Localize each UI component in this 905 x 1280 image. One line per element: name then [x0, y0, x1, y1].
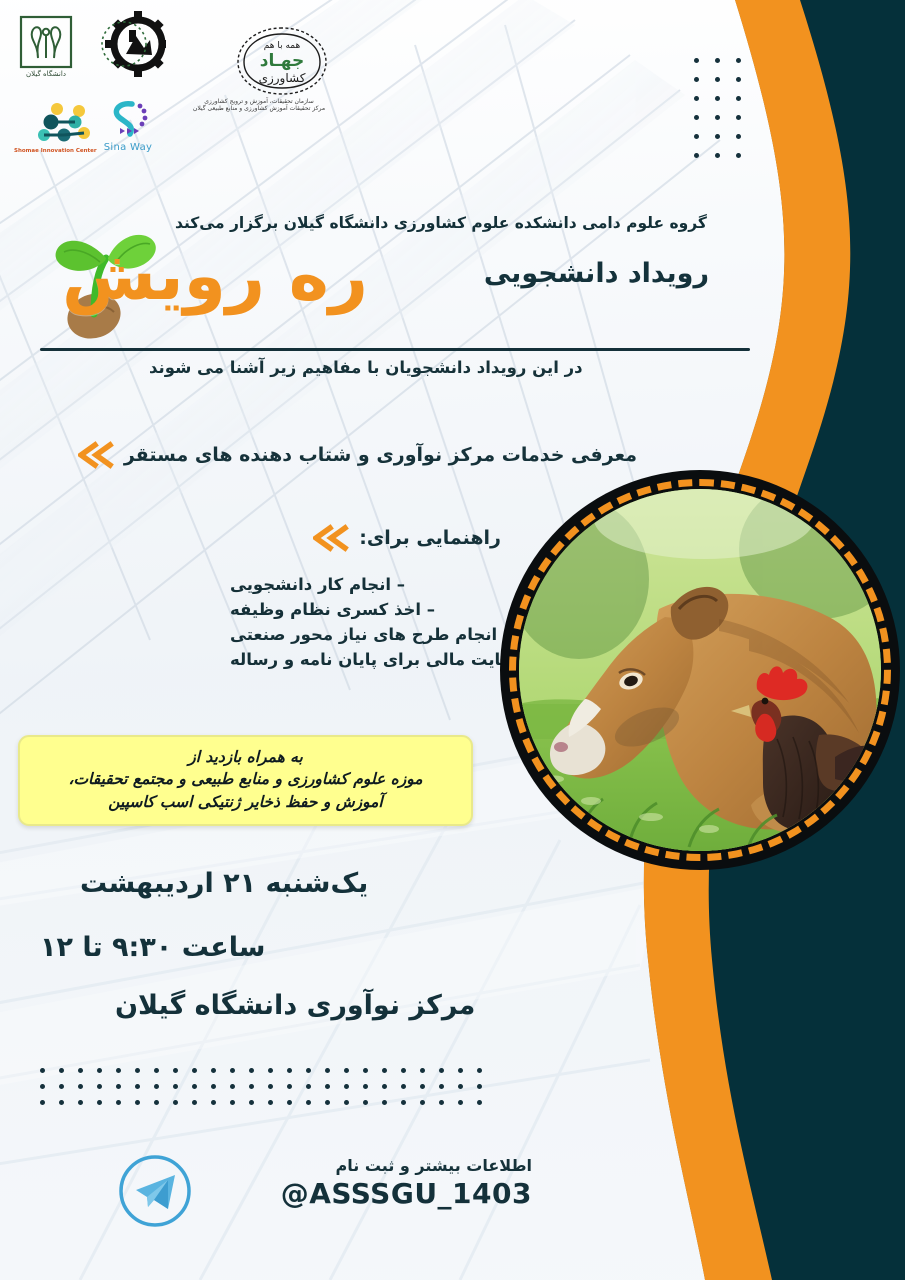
dot: [439, 1068, 444, 1073]
dot: [249, 1084, 254, 1089]
dot: [420, 1100, 425, 1105]
dot: [458, 1100, 463, 1105]
dot: [135, 1100, 140, 1105]
dot: [694, 77, 699, 82]
event-time: ساعت ۹:۳۰ تا ۱۲: [40, 932, 520, 963]
dot: [694, 153, 699, 158]
dot: [59, 1100, 64, 1105]
dot: [694, 58, 699, 63]
dot: [268, 1100, 273, 1105]
dot: [211, 1100, 216, 1105]
dot: [420, 1084, 425, 1089]
dot-grid-bottom: [40, 1068, 482, 1105]
svg-text:کشاورزی: کشاورزی: [259, 71, 306, 86]
dot: [135, 1068, 140, 1073]
dot: [382, 1068, 387, 1073]
dot: [439, 1100, 444, 1105]
dot: [173, 1100, 178, 1105]
sina-way-logo: Sina Way: [100, 98, 156, 154]
dot: [154, 1084, 159, 1089]
agricultural-gear-logo: [98, 10, 166, 82]
dot: [382, 1084, 387, 1089]
dot: [401, 1084, 406, 1089]
dot: [325, 1084, 330, 1089]
dot: [59, 1068, 64, 1073]
dot: [420, 1068, 425, 1073]
dot: [192, 1068, 197, 1073]
bullet-row: راهنمایی برای:: [313, 523, 501, 553]
dot: [715, 96, 720, 101]
dot: [78, 1100, 83, 1105]
dot: [287, 1100, 292, 1105]
event-date: یک‌شنبه ۲۱ اردیبهشت: [80, 868, 560, 899]
dot: [135, 1084, 140, 1089]
dot: [40, 1100, 45, 1105]
dot: [154, 1100, 159, 1105]
dot: [249, 1068, 254, 1073]
sponsor-logos-group: دانشگاه گیلان: [6, 6, 336, 176]
telegram-handle[interactable]: @ASSSGU_1403: [202, 1177, 532, 1210]
visit-note-box: به همراه بازدید از موزه علوم کشاورزی و م…: [18, 735, 473, 826]
university-of-guilan-caption: دانشگاه گیلان: [18, 70, 74, 78]
dot: [736, 96, 741, 101]
dot: [363, 1100, 368, 1105]
dot: [97, 1068, 102, 1073]
event-date-text: یک‌شنبه ۲۱ اردیبهشت: [80, 868, 368, 899]
dot: [287, 1068, 292, 1073]
dot: [736, 58, 741, 63]
dot: [192, 1100, 197, 1105]
dot: [477, 1084, 482, 1089]
dot: [477, 1068, 482, 1073]
dot: [736, 115, 741, 120]
bullet-text: راهنمایی برای:: [359, 527, 501, 549]
dot: [40, 1084, 45, 1089]
dot: [439, 1084, 444, 1089]
dot: [306, 1084, 311, 1089]
dot: [268, 1068, 273, 1073]
brand-name: ره رویش: [62, 243, 368, 311]
telegram-info-label: اطلاعات بیشتر و ثبت نام: [202, 1156, 532, 1175]
bullet-text: معرفی خدمات مرکز نوآوری و شتاب دهنده های…: [124, 444, 637, 466]
subtitle-line: در این رویداد دانشجویان با مفاهیم زیر آش…: [149, 358, 749, 377]
dot: [736, 77, 741, 82]
host-line: گروه علوم دامی دانشکده علوم کشاورزی دانش…: [175, 214, 735, 232]
dot: [59, 1084, 64, 1089]
dot: [382, 1100, 387, 1105]
dot: [715, 153, 720, 158]
dot: [401, 1068, 406, 1073]
dot: [363, 1068, 368, 1073]
dot: [694, 134, 699, 139]
university-of-guilan-logo: دانشگاه گیلان: [18, 14, 74, 78]
poster-canvas: دانشگاه گیلان: [0, 0, 905, 1280]
note-line: موزه علوم کشاورزی و منابع طبیعی و مجتمع …: [36, 768, 455, 790]
dot: [477, 1100, 482, 1105]
dot: [736, 153, 741, 158]
dot: [363, 1084, 368, 1089]
dot: [306, 1100, 311, 1105]
dot: [116, 1084, 121, 1089]
dot: [173, 1084, 178, 1089]
double-chevron-icon: [78, 440, 114, 470]
dot: [173, 1068, 178, 1073]
dot: [230, 1100, 235, 1105]
dot: [230, 1068, 235, 1073]
dot: [344, 1084, 349, 1089]
event-time-text: ساعت ۹:۳۰ تا ۱۲: [40, 932, 265, 963]
dot: [458, 1068, 463, 1073]
telegram-footer[interactable]: اطلاعات بیشتر و ثبت نام @ASSSGU_1403: [118, 1148, 538, 1240]
dot: [40, 1068, 45, 1073]
dot: [715, 77, 720, 82]
dot: [116, 1100, 121, 1105]
dot: [694, 96, 699, 101]
note-line: به همراه بازدید از: [36, 746, 455, 768]
dot: [715, 134, 720, 139]
dot: [325, 1068, 330, 1073]
shomae-innovation-center-logo: Shomae Innovation Center: [14, 102, 97, 154]
note-line: آموزش و حفظ ذخایر ژنتیکی اسب کاسپین: [36, 791, 455, 813]
title-divider: [40, 348, 750, 351]
dot: [211, 1084, 216, 1089]
dot: [78, 1084, 83, 1089]
dot: [78, 1068, 83, 1073]
dot: [715, 115, 720, 120]
dot: [344, 1068, 349, 1073]
telegram-text-block: اطلاعات بیشتر و ثبت نام @ASSSGU_1403: [202, 1156, 532, 1210]
dot: [268, 1084, 273, 1089]
dot: [192, 1084, 197, 1089]
dot: [97, 1084, 102, 1089]
dot: [287, 1084, 292, 1089]
dot: [401, 1100, 406, 1105]
sina-way-caption: Sina Way: [100, 142, 156, 154]
dot: [306, 1068, 311, 1073]
dot: [116, 1068, 121, 1073]
dot: [715, 58, 720, 63]
shomae-caption: Shomae Innovation Center: [14, 148, 97, 154]
dot: [344, 1100, 349, 1105]
dot: [211, 1068, 216, 1073]
dot: [249, 1100, 254, 1105]
dot: [230, 1084, 235, 1089]
event-place: مرکز نوآوری دانشگاه گیلان: [115, 990, 595, 1021]
cow-and-rooster-photo: [500, 470, 900, 870]
dot: [154, 1068, 159, 1073]
jahad-keshavarzi-logo: همه با هم جهـاد کشاورزی سازمان تحقیقات، …: [184, 24, 334, 113]
svg-text:جهـاد: جهـاد: [260, 51, 304, 71]
dot: [458, 1084, 463, 1089]
event-place-text: مرکز نوآوری دانشگاه گیلان: [115, 990, 475, 1021]
dot: [97, 1100, 102, 1105]
telegram-icon[interactable]: [118, 1154, 192, 1228]
photo-image: [519, 489, 881, 851]
dot: [694, 115, 699, 120]
svg-text:همه با هم: همه با هم: [264, 41, 301, 51]
dot: [325, 1100, 330, 1105]
event-type-label: رویداد دانشجویی: [484, 258, 709, 289]
bullet-row: معرفی خدمات مرکز نوآوری و شتاب دهنده های…: [78, 440, 637, 470]
double-chevron-icon: [313, 523, 349, 553]
dot-grid-top-right: [694, 58, 741, 158]
dot: [736, 134, 741, 139]
jahad-subtitle-2: مرکز تحقیقات آموزش کشاورزی و منابع طبیعی…: [184, 106, 334, 113]
